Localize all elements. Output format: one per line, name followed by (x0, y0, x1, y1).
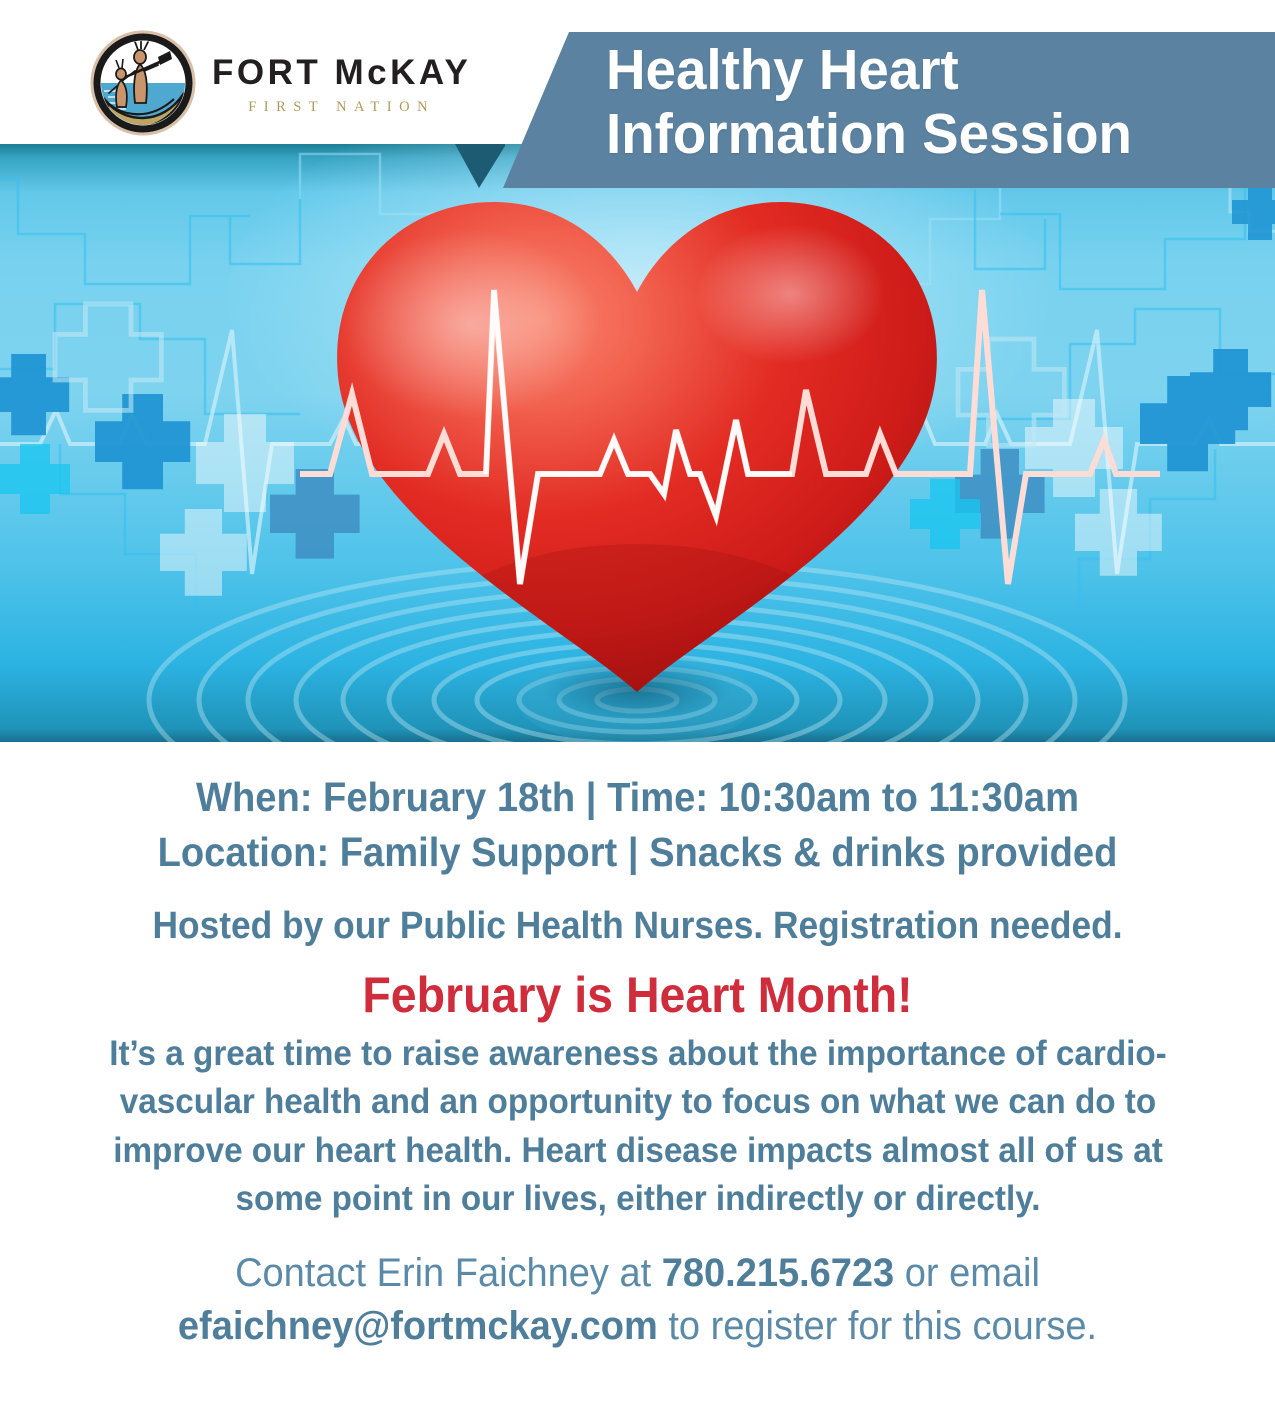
banner-title-line1: Healthy Heart (606, 38, 1240, 102)
body-line-3: improve our heart health. Heart disease … (72, 1127, 1203, 1175)
event-when-time: When: February 18th | Time: 10:30am to 1… (45, 770, 1231, 825)
content-section: When: February 18th | Time: 10:30am to 1… (0, 742, 1275, 1406)
banner-title: Healthy Heart Information Session (606, 38, 1240, 167)
body-line-2: vascular health and an opportunity to fo… (72, 1078, 1203, 1126)
contact-line-2: efaichney@fortmckay.com to register for … (32, 1300, 1243, 1353)
contact-email[interactable]: efaichney@fortmckay.com (178, 1304, 658, 1348)
organization-subtitle: FIRST NATION (248, 99, 435, 116)
organization-wordmark: FORT McKAY FIRST NATION (212, 55, 471, 116)
body-paragraph: It’s a great time to raise awareness abo… (72, 1030, 1203, 1223)
hero-image (0, 144, 1275, 742)
organization-name: FORT McKAY (212, 55, 471, 90)
contact-info: Contact Erin Faichney at 780.215.6723 or… (32, 1247, 1243, 1353)
canoe-paddlers-emblem-icon (88, 27, 198, 139)
contact-phone[interactable]: 780.215.6723 (662, 1251, 894, 1295)
body-line-4: some point in our lives, either indirect… (72, 1175, 1203, 1223)
body-line-1: It’s a great time to raise awareness abo… (72, 1030, 1203, 1078)
event-location-snacks: Location: Family Support | Snacks & drin… (45, 825, 1231, 880)
title-banner: Healthy Heart Information Session (503, 32, 1275, 188)
contact-line-1: Contact Erin Faichney at 780.215.6723 or… (32, 1247, 1243, 1300)
contact-suffix: or email (894, 1251, 1040, 1295)
event-details: When: February 18th | Time: 10:30am to 1… (0, 742, 1275, 879)
organization-logo: FORT McKAY FIRST NATION (88, 27, 471, 139)
contact-register-text: to register for this course. (658, 1304, 1097, 1348)
heart-month-headline: February is Heart Month! (45, 967, 1231, 1025)
contact-prefix: Contact Erin Faichney at (235, 1251, 662, 1295)
heart-graphic (0, 144, 1275, 742)
hosted-by-text: Hosted by our Public Health Nurses. Regi… (45, 904, 1231, 950)
banner-title-line2: Information Session (606, 102, 1240, 166)
